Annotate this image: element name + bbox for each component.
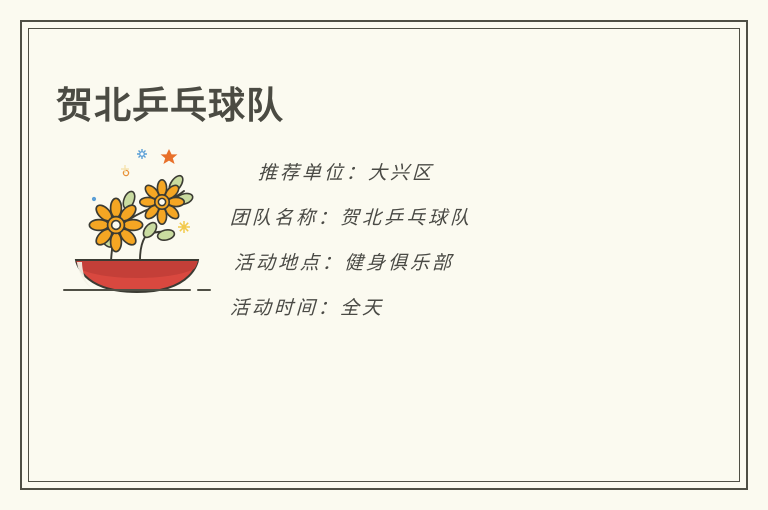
info-label-recommending-unit: 推荐单位：: [258, 162, 369, 184]
flower-pot: [76, 260, 198, 292]
info-value-activity-time: 全天: [340, 297, 385, 319]
info-value-recommending-unit: 大兴区: [368, 162, 435, 184]
yellow-sparkle: [178, 221, 190, 233]
page-title: 贺北乒乓球队: [56, 83, 284, 129]
activity-info-block: 推荐单位：大兴区 团队名称：贺北乒乓球队 活动地点：健身俱乐部 活动时间：全天: [228, 164, 648, 318]
info-label-activity-location: 活动地点：: [234, 252, 345, 274]
orange-dot-sparkle: [123, 170, 128, 175]
flower-large: [89, 198, 142, 251]
info-value-team-name: 贺北乒乓球队: [340, 207, 473, 229]
blue-dot-sparkle: [92, 197, 96, 201]
flower-small: [140, 180, 184, 224]
info-line-activity-location: 活动地点：健身俱乐部: [228, 254, 649, 273]
potted-flowers-illustration: [62, 138, 212, 298]
info-line-team-name: 团队名称：贺北乒乓球队: [228, 209, 649, 228]
info-line-activity-time: 活动时间：全天: [228, 299, 649, 318]
info-line-recommending-unit: 推荐单位：大兴区: [228, 164, 649, 183]
info-label-team-name: 团队名称：: [230, 207, 341, 229]
activity-card: 贺北乒乓球队: [0, 0, 768, 510]
orange-star-sparkle: [161, 149, 178, 164]
info-label-activity-time: 活动时间：: [230, 297, 341, 319]
blue-sparkle: [137, 149, 147, 159]
info-value-activity-location: 健身俱乐部: [344, 252, 455, 274]
